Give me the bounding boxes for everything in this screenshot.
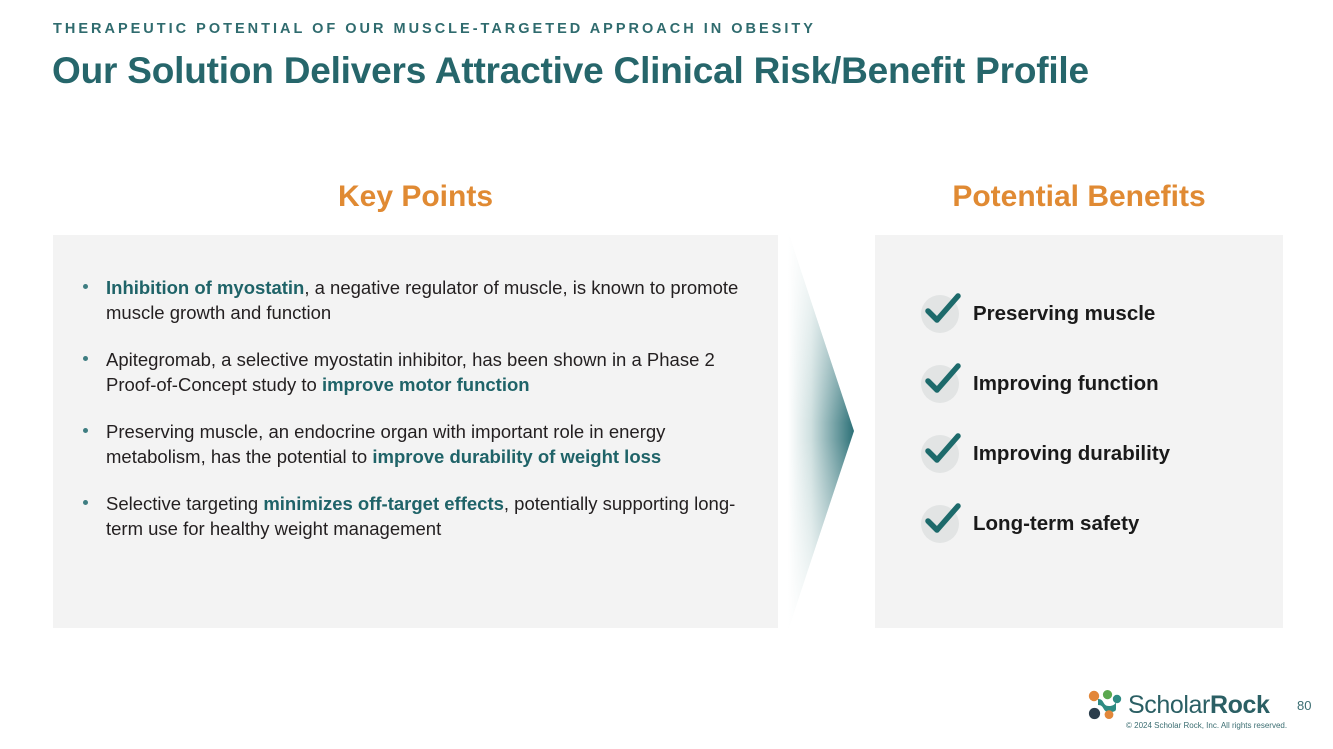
key-point-item: Preserving muscle, an endocrine organ wi… (75, 419, 752, 469)
key-point-emphasis: minimizes off-target effects (263, 493, 504, 514)
brand-wordmark: ScholarRock (1128, 691, 1270, 720)
bullet-dot-icon (83, 428, 88, 433)
benefits-list: Preserving muscleImproving functionImpro… (921, 279, 1170, 559)
brand-logo: ScholarRock (1088, 690, 1270, 720)
key-point-text: Inhibition of myostatin, a negative regu… (106, 275, 752, 325)
key-point-item: Selective targeting minimizes off-target… (75, 491, 752, 541)
check-icon (922, 499, 964, 541)
check-icon (922, 429, 964, 471)
check-icon (922, 289, 964, 331)
key-point-text: Apitegromab, a selective myostatin inhib… (106, 347, 752, 397)
check-icon (922, 359, 964, 401)
key-point-emphasis: Inhibition of myostatin (106, 277, 304, 298)
benefit-check-wrapper (921, 365, 959, 403)
slide: THERAPEUTIC POTENTIAL OF OUR MUSCLE-TARG… (0, 0, 1333, 749)
slide-title: Our Solution Delivers Attractive Clinica… (52, 50, 1089, 92)
key-points-heading: Key Points (53, 180, 778, 214)
benefit-label: Preserving muscle (973, 302, 1155, 326)
page-number: 80 (1297, 698, 1311, 713)
benefit-check-wrapper (921, 295, 959, 333)
benefit-label: Improving function (973, 372, 1159, 396)
key-point-item: Inhibition of myostatin, a negative regu… (75, 275, 752, 325)
key-point-plain: Selective targeting (106, 493, 263, 514)
key-point-text: Selective targeting minimizes off-target… (106, 491, 752, 541)
potential-benefits-heading: Potential Benefits (875, 180, 1283, 214)
slide-eyebrow-label: THERAPEUTIC POTENTIAL OF OUR MUSCLE-TARG… (53, 21, 816, 37)
potential-benefits-panel: Preserving muscleImproving functionImpro… (875, 235, 1283, 628)
key-point-emphasis: improve durability of weight loss (372, 446, 661, 467)
benefit-check-wrapper (921, 505, 959, 543)
benefit-item: Improving durability (921, 419, 1170, 489)
key-points-list: Inhibition of myostatin, a negative regu… (75, 275, 752, 541)
copyright-notice: © 2024 Scholar Rock, Inc. All rights res… (1126, 721, 1287, 730)
benefit-label: Long-term safety (973, 512, 1139, 536)
bullet-dot-icon (83, 356, 88, 361)
right-chevron-arrow-icon (788, 232, 854, 630)
bullet-dot-icon (83, 500, 88, 505)
benefit-label: Improving durability (973, 442, 1170, 466)
scholar-rock-logo-icon (1088, 690, 1122, 720)
key-points-panel: Inhibition of myostatin, a negative regu… (53, 235, 778, 628)
key-point-text: Preserving muscle, an endocrine organ wi… (106, 419, 752, 469)
brand-name-part2: Rock (1210, 691, 1270, 719)
key-point-emphasis: improve motor function (322, 374, 530, 395)
bullet-dot-icon (83, 284, 88, 289)
brand-name-part1: Scholar (1128, 691, 1210, 719)
benefit-item: Improving function (921, 349, 1170, 419)
benefit-item: Preserving muscle (921, 279, 1170, 349)
benefit-check-wrapper (921, 435, 959, 473)
benefit-item: Long-term safety (921, 489, 1170, 559)
key-point-item: Apitegromab, a selective myostatin inhib… (75, 347, 752, 397)
